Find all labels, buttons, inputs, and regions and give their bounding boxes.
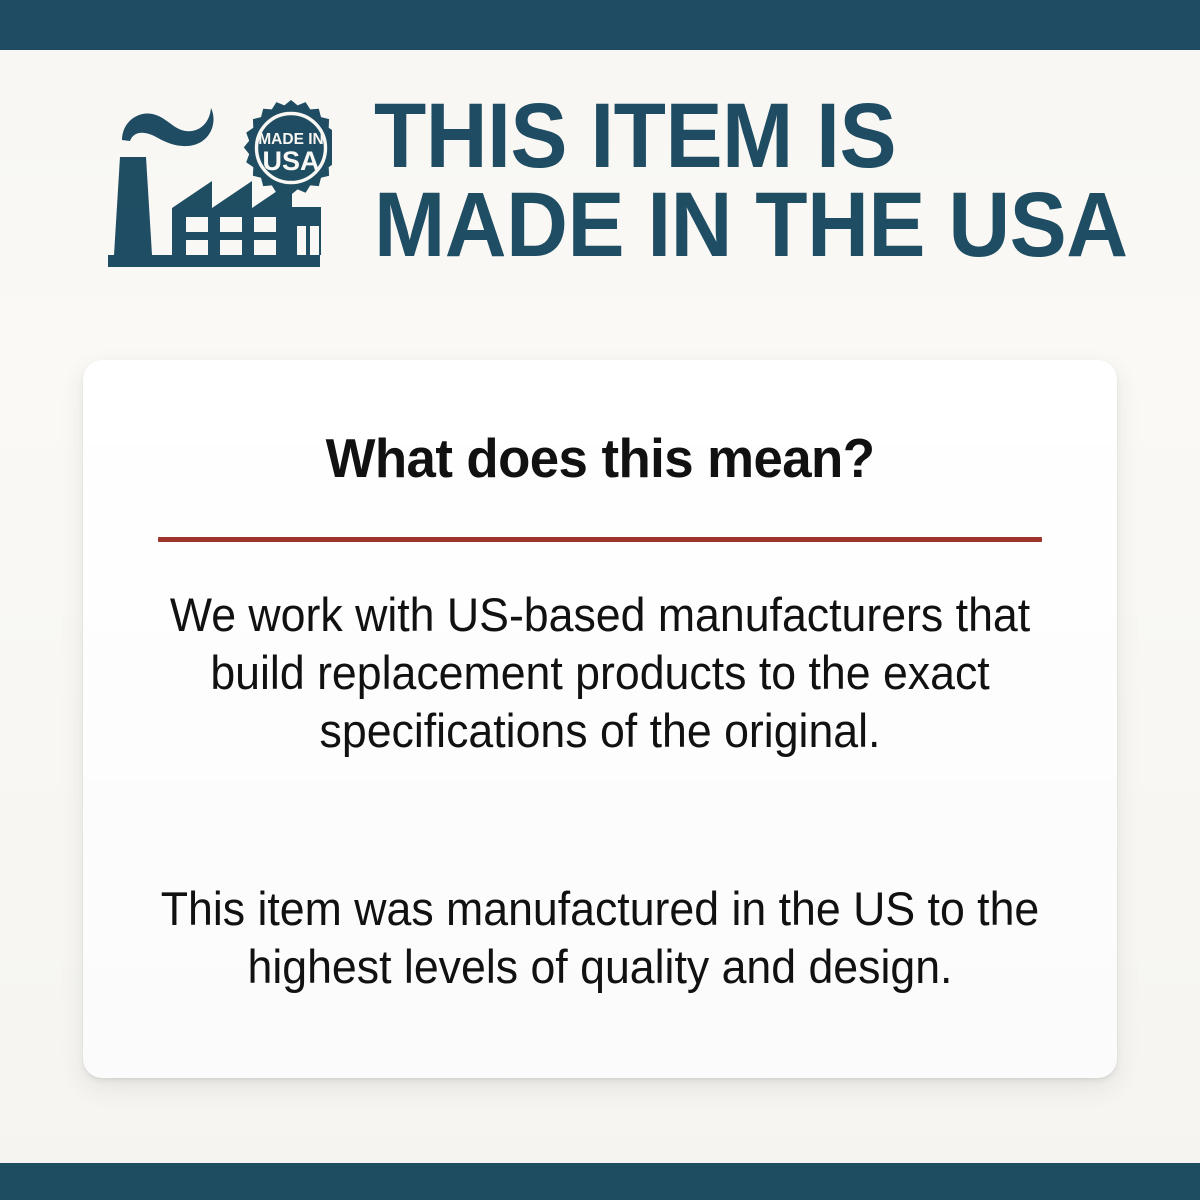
factory-icon: MADE IN USA [100, 95, 332, 271]
card-paragraph: This item was manufactured in the US to … [152, 880, 1049, 996]
title-line-1: THIS ITEM IS [374, 92, 1128, 181]
bottom-accent-bar [0, 1163, 1200, 1200]
card-heading: What does this mean? [104, 426, 1097, 490]
top-accent-bar [0, 0, 1200, 50]
page-title: THIS ITEM IS MADE IN THE USA [374, 92, 1184, 270]
card-paragraph: We work with US-based manufacturers that… [152, 586, 1049, 760]
badge-line2: USA [262, 146, 319, 176]
page-root: MADE IN USA THIS ITEM IS MADE IN THE USA… [0, 0, 1200, 1200]
title-line-2: MADE IN THE USA [374, 181, 1128, 270]
made-in-usa-badge-icon: MADE IN USA [244, 100, 332, 195]
card-divider [158, 537, 1042, 542]
info-card: What does this mean? We work with US-bas… [83, 360, 1117, 1078]
card-body: We work with US-based manufacturers that… [128, 586, 1072, 996]
header-banner: MADE IN USA THIS ITEM IS MADE IN THE USA [0, 50, 1200, 312]
